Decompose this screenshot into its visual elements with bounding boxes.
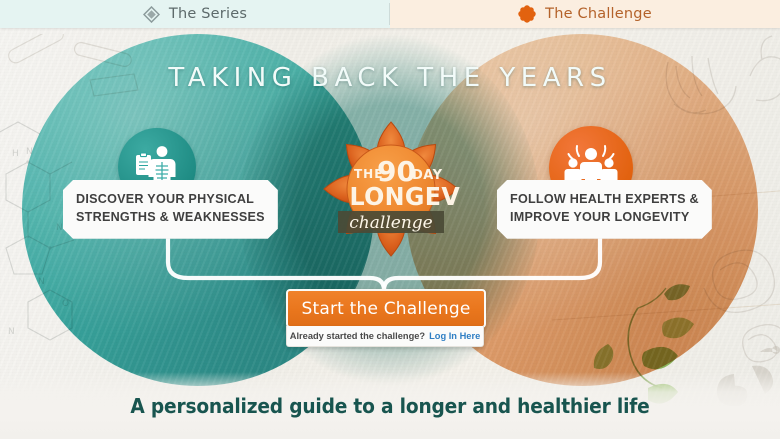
longevity-challenge-badge: THE 90 DAY LONGEVITY challenge THE 90 DA… [320,118,462,260]
diamond-icon [143,6,160,23]
right-feature-callout: FOLLOW HEALTH EXPERTS & IMPROVE YOUR LON… [497,180,712,239]
svg-text:challenge: challenge [349,213,432,233]
tab-bar: The Series The Challenge [0,0,780,28]
tab-the-challenge[interactable]: The Challenge [390,0,780,28]
right-feature-line-2: IMPROVE YOUR LONGEVITY [510,209,699,227]
tab-divider [389,3,390,25]
page-tagline: A personalized guide to a longer and hea… [27,394,752,418]
left-feature-callout: DISCOVER YOUR PHYSICAL STRENGTHS & WEAKN… [63,180,278,239]
login-prompt: Already started the challenge? [290,331,425,341]
start-the-challenge-button[interactable]: Start the Challenge [286,289,486,328]
landing-page: HN NN NO [0,0,780,439]
log-in-here-link[interactable]: Log In Here [429,331,480,341]
login-bar: Already started the challenge? Log In He… [286,326,484,347]
left-feature-line-1: DISCOVER YOUR PHYSICAL [76,191,265,209]
lotus-badge-icon: THE 90 DAY LONGEVITY challenge [320,118,462,260]
page-headline: TAKING BACK THE YEARS [0,63,780,93]
left-feature-line-2: STRENGTHS & WEAKNESSES [76,209,265,227]
tab-the-series[interactable]: The Series [0,0,390,28]
svg-text:LONGEVITY: LONGEVITY [349,181,462,211]
right-feature-line-1: FOLLOW HEALTH EXPERTS & [510,191,699,209]
tab-the-challenge-label: The Challenge [545,6,652,22]
lotus-flower-icon [518,5,536,23]
tab-the-series-label: The Series [169,6,247,22]
start-the-challenge-label: Start the Challenge [301,299,470,319]
